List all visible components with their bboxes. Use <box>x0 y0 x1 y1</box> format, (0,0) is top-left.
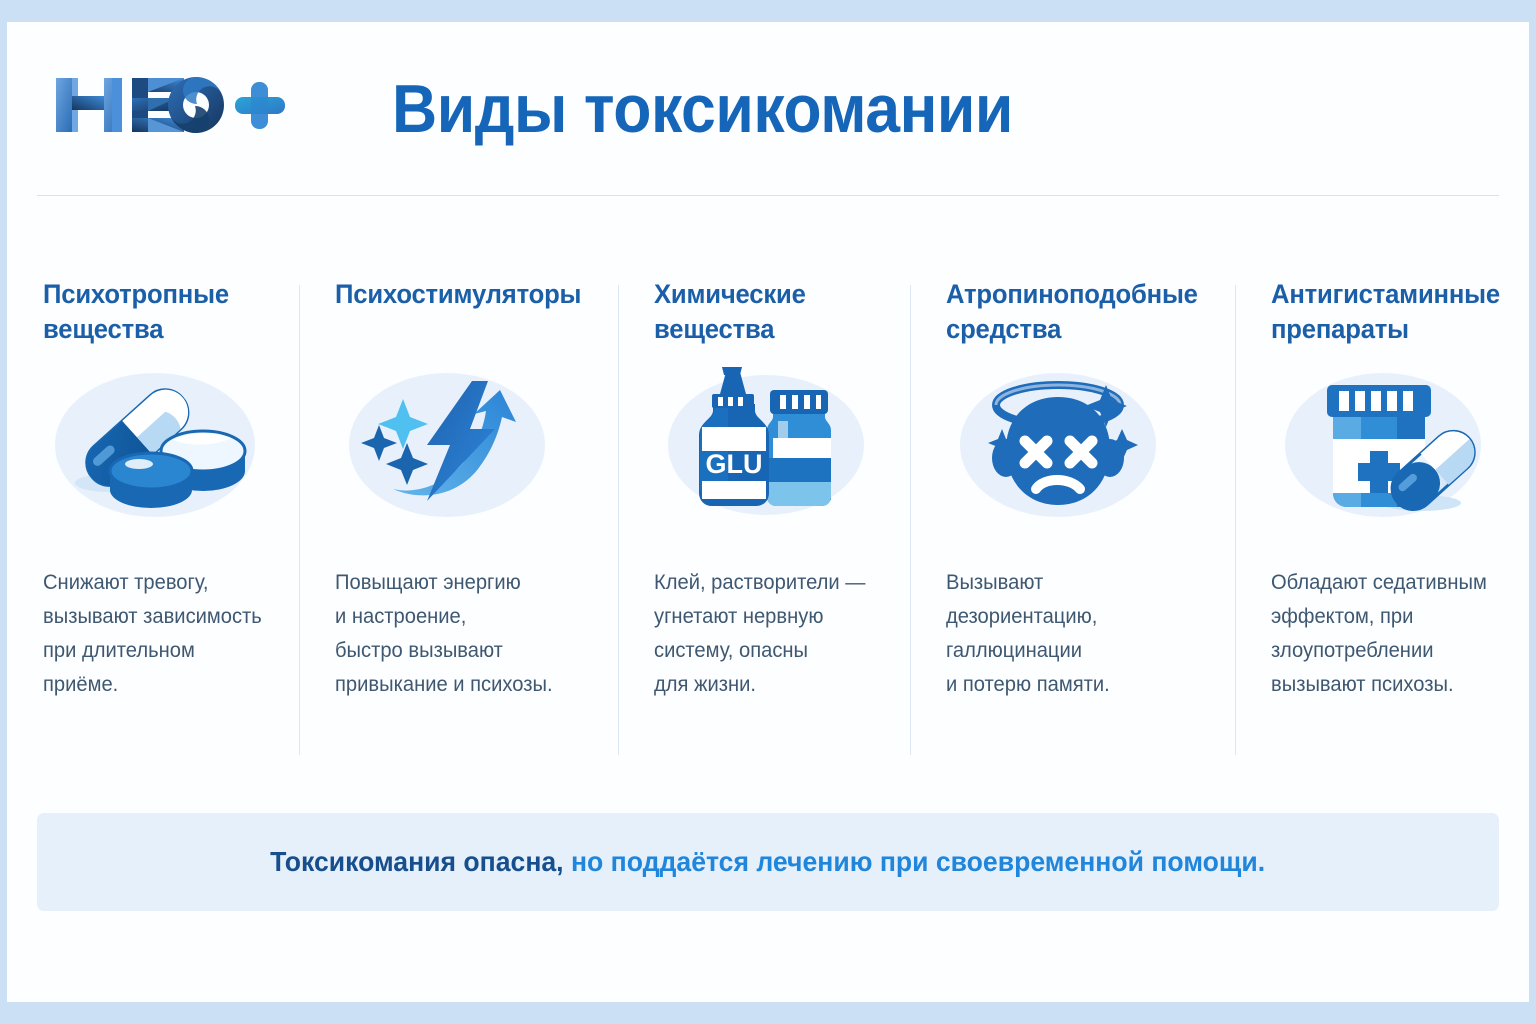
column-title: Атропиноподобные средства <box>946 277 1198 351</box>
column-chemical: Химические вещества <box>618 277 910 777</box>
column-title: Антигистаминные препараты <box>1271 277 1500 351</box>
lightning-sparkle-arrow-icon <box>335 363 567 528</box>
page-title: Виды токсикомании <box>392 74 1013 145</box>
category-columns: Психотропные вещества <box>7 277 1529 777</box>
column-title: Химические вещества <box>654 277 874 351</box>
pill-bottle-capsule-icon <box>1271 363 1503 528</box>
header: Виды токсикомании <box>7 22 1529 182</box>
content-sheet: Виды токсикомании Психотропные вещества <box>7 22 1529 1002</box>
column-description: Обладают седативным эффектом, при злоупо… <box>1271 566 1502 702</box>
neo-plus-logo <box>52 70 292 140</box>
column-description: Снижают тревогу, вызывают зависимость пр… <box>43 566 266 702</box>
pills-capsule-icon <box>43 363 275 528</box>
footer-banner: Токсикомания опасна, но поддаётся лечени… <box>37 813 1499 911</box>
column-title: Психостимуляторы <box>335 277 581 351</box>
header-divider <box>37 195 1499 196</box>
dizzy-face-icon <box>946 363 1178 528</box>
column-description: Повыщают энергию и настроение, быстро вы… <box>335 566 584 702</box>
glue-solvent-bottles-icon: GLU <box>654 363 886 528</box>
column-psychostimulants: Психостимуляторы <box>299 277 618 777</box>
column-psychotropic: Психотропные вещества <box>7 277 299 777</box>
banner-text: Токсикомания опасна, но поддаётся лечени… <box>271 846 1266 878</box>
column-description: Вызывают дезориентацию, галлюцинации и п… <box>946 566 1200 702</box>
column-atropine-like: Атропиноподобные средства <box>910 277 1235 777</box>
column-description: Клей, растворители — угнетают нервную си… <box>654 566 877 702</box>
infographic-page: Виды токсикомании Психотропные вещества <box>0 0 1536 1024</box>
glue-label: GLU <box>706 449 763 479</box>
column-antihistamine: Антигистаминные препараты <box>1235 277 1536 777</box>
banner-rest-text: но поддаётся лечению при своевременной п… <box>564 846 1266 877</box>
column-title: Психотропные вещества <box>43 277 263 351</box>
banner-strong-text: Токсикомания опасна, <box>271 846 564 877</box>
